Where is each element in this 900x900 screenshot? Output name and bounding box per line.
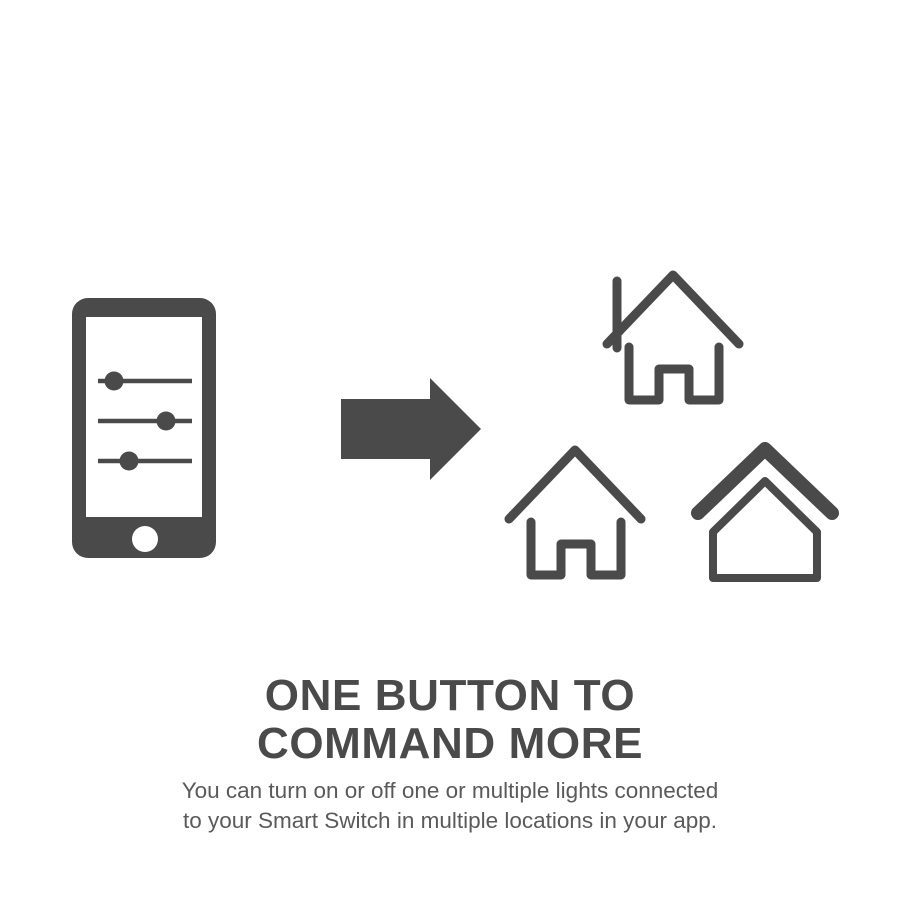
house-bottom-left-roof [509,450,641,519]
smartphone-icon [72,298,216,558]
slider-1-knob[interactable] [105,372,124,391]
subcopy-line-2: to your Smart Switch in multiple locatio… [0,806,900,836]
home-button-icon[interactable] [132,526,158,552]
illustration-area [0,0,900,640]
house-bottom-left-icon [509,450,641,575]
slider-3-knob[interactable] [120,452,139,471]
headline: ONE BUTTON TO COMMAND MORE [0,672,900,768]
phone-screen [86,317,202,517]
house-top-right-walls-and-door [629,347,719,400]
infographic-root: ONE BUTTON TO COMMAND MORE You can turn … [0,0,900,900]
house-bottom-left-walls-and-door [531,522,621,575]
headline-line-1: ONE BUTTON TO [0,672,900,720]
house-bottom-right-body [713,481,817,578]
house-bottom-right-icon [698,449,832,578]
subcopy-line-1: You can turn on or off one or multiple l… [0,776,900,806]
house-top-right-icon [607,275,739,400]
slider-2-knob[interactable] [157,412,176,431]
house-top-right-roof [607,275,739,344]
arrow-shape [341,378,481,480]
caption-block: ONE BUTTON TO COMMAND MORE You can turn … [0,672,900,836]
subcopy: You can turn on or off one or multiple l… [0,776,900,836]
right-arrow-icon [341,378,481,480]
headline-line-2: COMMAND MORE [0,720,900,768]
